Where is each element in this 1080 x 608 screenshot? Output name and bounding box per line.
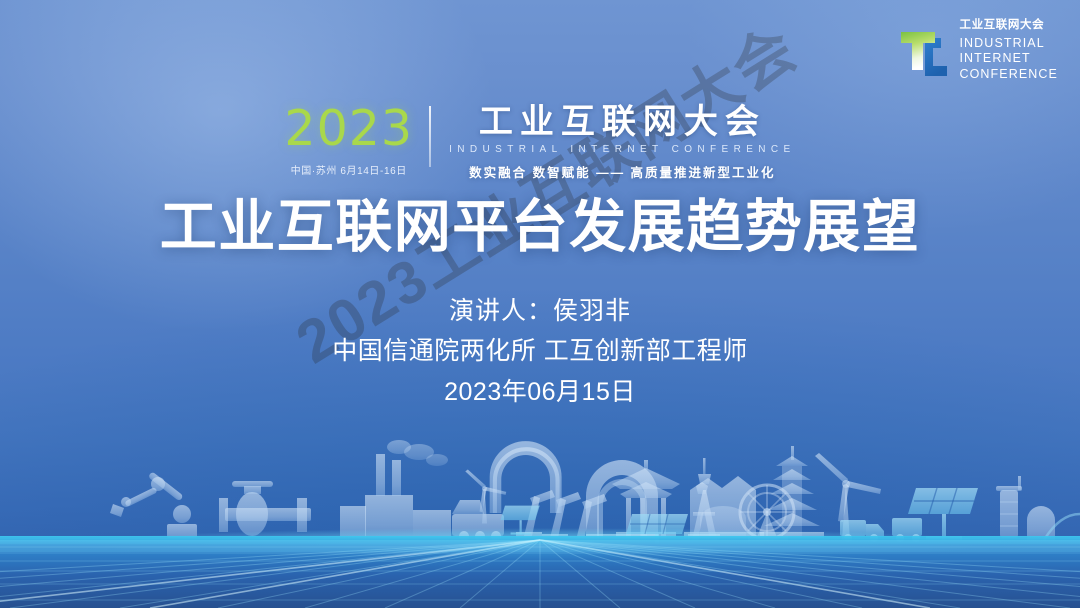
conference-t-mark-icon xyxy=(895,22,949,78)
event-lockup: 2023 中国·苏州 6月14日-16日 工业互联网大会 INDUSTRIAL … xyxy=(0,104,1080,181)
corner-logo-en-3: CONFERENCE xyxy=(959,67,1058,83)
event-lockup-right: 工业互联网大会 INDUSTRIAL INTERNET CONFERENCE 数… xyxy=(431,104,795,181)
presentation-date: 2023年06月15日 xyxy=(0,377,1080,408)
skyline-silhouettes xyxy=(110,440,824,542)
corner-conference-logo: 工业互联网大会 INDUSTRIAL INTERNET CONFERENCE xyxy=(895,18,1058,82)
event-cn-title: 工业互联网大会 xyxy=(479,104,766,140)
pipe-valve-icon xyxy=(219,481,311,536)
presentation-slide: 工业互联网大会 INDUSTRIAL INTERNET CONFERENCE 2… xyxy=(0,0,1080,608)
corner-logo-en-1: INDUSTRIAL xyxy=(959,36,1058,52)
event-en-title: INDUSTRIAL INTERNET CONFERENCE xyxy=(449,144,795,155)
title-block: 工业互联网平台发展趋势展望 xyxy=(0,196,1080,259)
event-slogan: 数实融合 数智赋能 —— 高质量推进新型工业化 xyxy=(469,162,775,181)
speaker-name: 演讲人：侯羽非 xyxy=(0,296,1080,327)
corner-logo-en-2: INTERNET xyxy=(959,51,1058,67)
city-skyline-scene xyxy=(0,428,1080,608)
event-place-date: 中国·苏州 6月14日-16日 xyxy=(291,162,407,177)
skyline-svg xyxy=(0,428,1080,608)
page-title: 工业互联网平台发展趋势展望 xyxy=(0,196,1080,259)
skyline-silhouettes-mid xyxy=(490,441,562,513)
gate-of-the-orient-icon xyxy=(490,441,562,513)
event-year: 2023 xyxy=(284,104,413,153)
perspective-grid-floor xyxy=(0,536,1080,608)
factory-smokestacks-icon xyxy=(340,440,451,538)
corner-logo-text: 工业互联网大会 INDUSTRIAL INTERNET CONFERENCE xyxy=(959,18,1058,82)
storage-tank-icon xyxy=(996,476,1055,540)
corner-logo-cn: 工业互联网大会 xyxy=(959,20,1058,32)
speaker-meta-block: 演讲人：侯羽非 中国信通院两化所 工互创新部工程师 2023年06月15日 xyxy=(0,296,1080,408)
event-lockup-left: 2023 中国·苏州 6月14日-16日 xyxy=(284,104,429,181)
robot-arm-icon xyxy=(110,471,197,538)
speaker-organization: 中国信通院两化所 工互创新部工程师 xyxy=(0,336,1080,367)
